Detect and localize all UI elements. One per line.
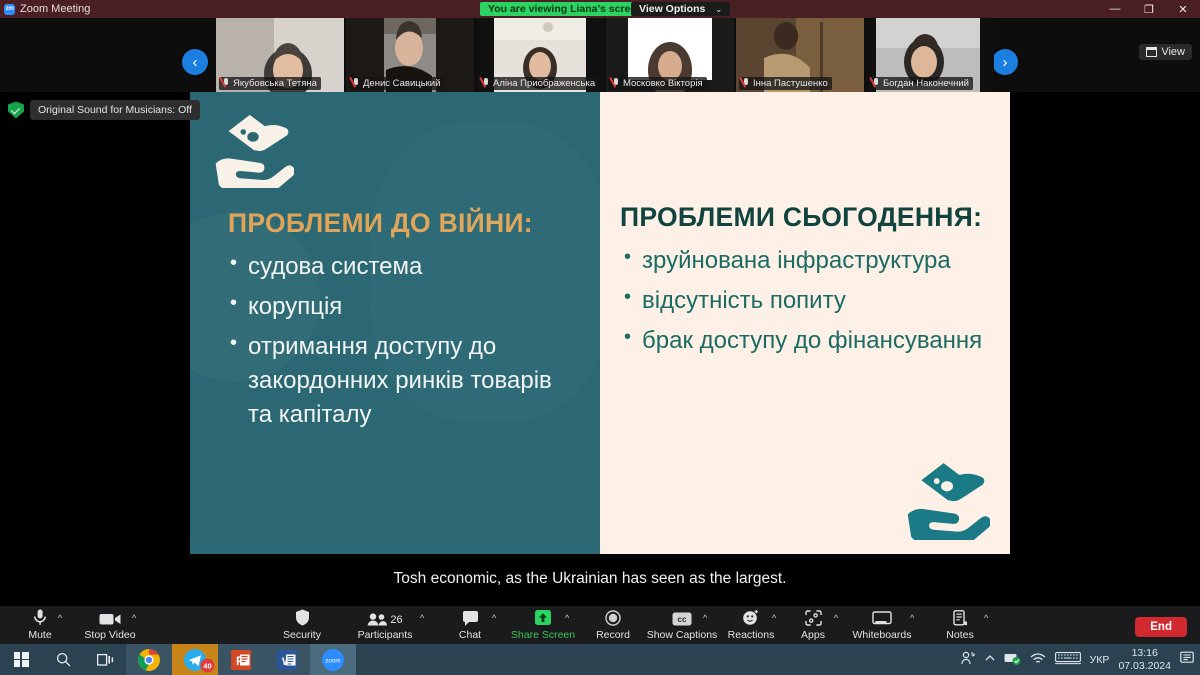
list-item: зруйнована інфраструктура: [622, 244, 992, 278]
apps-options-caret-icon[interactable]: ^: [834, 613, 838, 623]
participant-name-text: Московко Вікторія: [623, 78, 703, 89]
whiteboards-options-caret-icon[interactable]: ^: [910, 613, 914, 623]
participant-tile[interactable]: Денис Савицький: [346, 18, 474, 92]
record-button[interactable]: Record: [573, 609, 653, 641]
system-tray: УКР 13:16 07.03.2024: [961, 644, 1200, 675]
mute-label: Mute: [28, 629, 51, 641]
network-icon[interactable]: [1004, 651, 1021, 668]
mic-off-icon: [352, 78, 360, 89]
captions-options-caret-icon[interactable]: ^: [703, 613, 707, 623]
taskbar-app-powerpoint[interactable]: P: [218, 644, 264, 675]
participant-name-label: Аліна Приображенська: [479, 77, 599, 90]
participants-icon: 26: [367, 609, 402, 626]
list-item: відсутність попиту: [622, 284, 992, 318]
chat-options-caret-icon[interactable]: ^: [492, 613, 496, 623]
svg-text:cc: cc: [678, 615, 687, 624]
title-bar: zm Zoom Meeting You are viewing Liana's …: [0, 0, 1200, 18]
left-panel-heading: ПРОБЛЕМИ ДО ВІЙНИ:: [228, 210, 533, 238]
security-button[interactable]: Security: [262, 609, 342, 641]
left-panel-bullet-list: судова система корупція отримання доступ…: [228, 250, 578, 438]
video-options-caret-icon[interactable]: ^: [132, 613, 136, 623]
right-panel-bullet-list: зруйнована інфраструктура відсутність по…: [622, 244, 992, 364]
participant-name-text: Богдан Наконечний: [883, 78, 969, 89]
keyboard-icon[interactable]: [1055, 652, 1081, 668]
record-label: Record: [596, 629, 630, 641]
notes-options-caret-icon[interactable]: ^: [984, 613, 988, 623]
participant-tile[interactable]: Московко Вікторія: [606, 18, 734, 92]
original-sound-notification[interactable]: Original Sound for Musicians: Off: [8, 100, 200, 120]
chat-button[interactable]: Chat: [430, 609, 510, 641]
filmstrip-next-button[interactable]: ›: [992, 49, 1018, 75]
record-icon: [605, 609, 621, 626]
share-options-caret-icon[interactable]: ^: [565, 613, 569, 623]
participant-name-text: Денис Савицький: [363, 78, 440, 89]
input-language-indicator[interactable]: УКР: [1090, 654, 1110, 666]
mute-button[interactable]: Mute: [0, 609, 80, 641]
view-layout-label: View: [1161, 46, 1185, 58]
zoom-meeting-window: zm Zoom Meeting You are viewing Liana's …: [0, 0, 1200, 675]
svg-text:zoom: zoom: [325, 657, 340, 664]
participant-name-label: Інна Пастушенко: [739, 77, 832, 90]
participants-options-caret-icon[interactable]: ^: [420, 613, 424, 623]
search-icon[interactable]: [42, 644, 84, 675]
shield-icon: [295, 609, 310, 626]
filmstrip-prev-button[interactable]: ‹: [182, 49, 208, 75]
apps-icon: [805, 609, 822, 626]
show-captions-button[interactable]: cc Show Captions: [642, 609, 722, 641]
clock[interactable]: 13:16 07.03.2024: [1118, 647, 1171, 672]
minimize-button[interactable]: —: [1098, 0, 1132, 18]
close-button[interactable]: ✕: [1166, 0, 1200, 18]
chat-label: Chat: [459, 629, 481, 641]
end-meeting-button[interactable]: End: [1135, 617, 1187, 637]
mic-off-icon: [612, 78, 620, 89]
windows-logo-icon: [14, 652, 29, 667]
list-item: судова система: [228, 250, 578, 284]
telegram-badge: 40: [200, 658, 215, 673]
word-icon: W: [276, 649, 298, 671]
money-in-hand-icon: [904, 458, 990, 540]
video-camera-icon: [99, 609, 121, 626]
taskbar-app-chrome[interactable]: [126, 644, 172, 675]
reactions-label: Reactions: [728, 629, 775, 641]
participant-tile[interactable]: Інна Пастушенко: [736, 18, 864, 92]
clock-time: 13:16: [1118, 647, 1171, 659]
participants-button[interactable]: 26 Participants: [345, 609, 425, 641]
windows-start-icon[interactable]: [0, 644, 42, 675]
chevron-down-icon: ⌄: [715, 5, 722, 14]
view-layout-button[interactable]: View: [1139, 44, 1192, 60]
participant-name-label: Московко Вікторія: [609, 77, 707, 90]
google-chrome-icon: [137, 648, 161, 672]
shield-check-icon: [8, 102, 24, 119]
svg-text:40: 40: [203, 661, 211, 670]
stop-video-label: Stop Video: [84, 629, 135, 641]
slide-right-panel: ПРОБЛЕМИ СЬОГОДЕННЯ: зруйнована інфрастр…: [600, 92, 1010, 554]
powerpoint-icon: P: [230, 649, 252, 671]
notes-icon: [953, 609, 968, 626]
reactions-icon: [742, 609, 760, 626]
security-label: Security: [283, 629, 321, 641]
original-sound-label: Original Sound for Musicians: Off: [30, 100, 200, 120]
share-screen-button[interactable]: Share Screen: [503, 609, 583, 641]
mic-off-icon: [742, 78, 750, 89]
taskbar-app-word[interactable]: W: [264, 644, 310, 675]
window-title: Zoom Meeting: [20, 3, 90, 15]
window-controls: — ❐ ✕: [1098, 0, 1200, 18]
closed-captions-icon: cc: [672, 609, 692, 626]
chat-bubble-icon: [462, 609, 479, 626]
presentation-slide: ПРОБЛЕМИ ДО ВІЙНИ: судова система корупц…: [190, 92, 1010, 554]
shared-screen-stage: ПРОБЛЕМИ ДО ВІЙНИ: судова система корупц…: [90, 92, 1090, 606]
taskbar-app-telegram[interactable]: 40: [172, 644, 218, 675]
slide-left-panel: ПРОБЛЕМИ ДО ВІЙНИ: судова система корупц…: [190, 92, 600, 554]
notes-label: Notes: [946, 629, 973, 641]
zoom-icon: zoom: [321, 648, 345, 672]
list-item: брак доступу до фінансування: [622, 324, 992, 358]
list-item: корупція: [228, 290, 578, 324]
participants-label: Participants: [358, 629, 413, 641]
participants-count: 26: [390, 614, 402, 626]
participant-name-label: Денис Савицький: [349, 77, 444, 90]
whiteboards-label: Whiteboards: [853, 629, 912, 641]
list-item: отримання доступу до закордонних ринків …: [228, 330, 578, 432]
apps-button[interactable]: Apps: [773, 609, 853, 641]
participant-tile[interactable]: Богдан Наконечний: [866, 18, 994, 92]
wifi-icon[interactable]: [1030, 652, 1046, 668]
share-screen-label: Share Screen: [511, 629, 575, 641]
task-view-icon[interactable]: [84, 644, 126, 675]
whiteboard-icon: [872, 609, 892, 626]
participant-name-text: Інна Пастушенко: [753, 78, 828, 89]
screen-share-status-badge: You are viewing Liana's screen: [480, 2, 651, 16]
view-options-button[interactable]: View Options ⌄: [631, 2, 730, 16]
mic-off-icon: [872, 78, 880, 89]
participant-name-text: Якубовська Тетяна: [233, 78, 317, 89]
view-options-label: View Options: [639, 3, 705, 15]
participant-thumbnails: Якубовська Тетяна Денис Савицький: [216, 18, 994, 92]
share-screen-icon: [533, 609, 553, 626]
show-hidden-icons-icon[interactable]: [985, 654, 995, 665]
show-captions-label: Show Captions: [647, 629, 718, 641]
money-in-hand-icon: [212, 110, 294, 188]
notifications-icon[interactable]: [1180, 651, 1194, 668]
taskbar-app-zoom[interactable]: zoom: [310, 644, 356, 675]
mic-off-icon: [222, 78, 230, 89]
participant-tile[interactable]: Якубовська Тетяна: [216, 18, 344, 92]
participant-tile[interactable]: Аліна Приображенська: [476, 18, 604, 92]
participant-filmstrip: ‹ › View Якубовська Тетяна: [0, 18, 1200, 92]
microphone-icon: [33, 609, 47, 626]
right-panel-heading: ПРОБЛЕМИ СЬОГОДЕННЯ:: [620, 204, 982, 232]
stop-video-button[interactable]: Stop Video: [70, 609, 150, 641]
participant-name-label: Якубовська Тетяна: [219, 77, 321, 90]
participant-name-text: Аліна Приображенська: [493, 78, 595, 89]
participant-name-label: Богдан Наконечний: [869, 77, 973, 90]
clock-date: 07.03.2024: [1118, 660, 1171, 672]
people-share-icon[interactable]: [961, 651, 976, 668]
windows-taskbar: 40 P W zoom: [0, 644, 1200, 675]
maximize-button[interactable]: ❐: [1132, 0, 1166, 18]
mic-off-icon: [482, 78, 490, 89]
zoom-logo-icon: zm: [4, 4, 15, 15]
mute-options-caret-icon[interactable]: ^: [58, 613, 62, 623]
grid-view-icon: [1146, 47, 1157, 57]
apps-label: Apps: [801, 629, 825, 641]
meeting-toolbar: Mute ^ Stop Video ^ Security: [0, 606, 1200, 644]
live-caption: Tosh economic, as the Ukrainian has seen…: [90, 570, 1090, 588]
